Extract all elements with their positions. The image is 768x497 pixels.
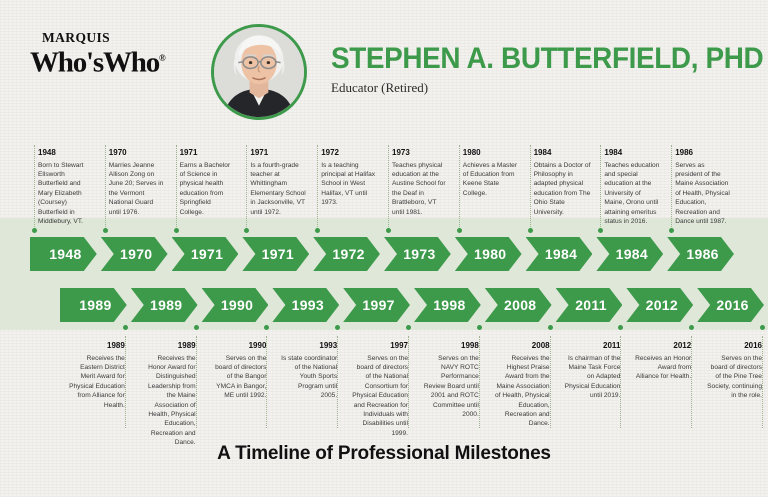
top-milestone-dot: [457, 228, 462, 233]
top-milestone-entry-text: Obtains a Doctor of Philosophy in adapte…: [534, 162, 591, 216]
footer-title: A Timeline of Professional Milestones: [0, 443, 768, 465]
top-milestone-year: 1984: [545, 246, 577, 262]
bottom-milestone-entry: 1997Serves on the board of directors of …: [351, 341, 408, 438]
bottom-milestone-chevron[interactable]: 1989: [60, 288, 127, 322]
bottom-divider: [266, 336, 267, 428]
bottom-milestone-year: 2008: [504, 297, 536, 313]
bottom-milestone-entry: 1998Serves on the NAVY ROTC Performance …: [422, 341, 479, 419]
bottom-milestone-entry-year: 1989: [68, 341, 125, 351]
bottom-milestone-chevron[interactable]: 1998: [414, 288, 481, 322]
top-milestone-entry-text: Serves as president of the Maine Associa…: [675, 162, 730, 225]
timeline-row-bottom: 1989198919901993199719982008201120122016: [0, 288, 768, 322]
bottom-milestone-entry-text: Is state coordinator of the National You…: [281, 355, 337, 400]
bottom-milestone-entry: 1989Receives the Eastern District Merit …: [68, 341, 125, 410]
bottom-milestone-chevron[interactable]: 1989: [131, 288, 198, 322]
bottom-divider: [479, 336, 480, 428]
top-milestone-entry: 1973Teaches physical education at the Au…: [392, 148, 449, 217]
top-milestone-entry: 1984Obtains a Doctor of Philosophy in ad…: [534, 148, 591, 217]
top-milestone-year: 1986: [686, 246, 718, 262]
avatar: [211, 24, 307, 120]
timeline-row-top: 1948197019711971197219731980198419841986: [0, 237, 768, 271]
top-milestone-chevron[interactable]: 1986: [667, 237, 734, 271]
bottom-milestone-year: 1989: [79, 297, 111, 313]
top-milestone-entry-text: Is a fourth-grade teacher at Whittingham…: [250, 162, 305, 216]
top-milestone-chevron[interactable]: 1971: [242, 237, 309, 271]
top-milestone-chevron[interactable]: 1970: [101, 237, 168, 271]
bottom-milestone-entry-text: Receives the Honor Award for Distinguish…: [148, 355, 196, 447]
top-divider: [34, 145, 35, 233]
bottom-milestone-chevron[interactable]: 1990: [202, 288, 269, 322]
top-milestone-entry-year: 1971: [180, 148, 237, 158]
bottom-milestone-dot: [194, 325, 199, 330]
top-milestone-entry: 1984Teaches education and special educat…: [604, 148, 661, 226]
top-milestone-year: 1948: [49, 246, 81, 262]
top-milestone-entry-year: 1984: [604, 148, 661, 158]
top-milestone-year: 1971: [191, 246, 223, 262]
top-milestone-entry: 1970Marries Jeanne Allison Zong on June …: [109, 148, 166, 217]
person-identity: STEPHEN A. BUTTERFIELD, PHD Educator (Re…: [331, 43, 768, 95]
top-milestone-entry: 1986Serves as president of the Maine Ass…: [675, 148, 732, 226]
bottom-milestone-chevron[interactable]: 2008: [485, 288, 552, 322]
person-role: Educator (Retired): [331, 80, 768, 95]
bottom-milestone-entry: 2011Is chairman of the Maine Task Force …: [564, 341, 621, 401]
top-milestone-year: 1980: [474, 246, 506, 262]
bottom-milestone-year: 1990: [221, 297, 253, 313]
bottom-milestone-entry: 2008Receives the Highest Praise Award fr…: [493, 341, 550, 429]
top-milestone-dot: [174, 228, 179, 233]
top-milestone-entry: 1972Is a teaching principal at Halifax S…: [321, 148, 378, 208]
top-milestone-entry-year: 1971: [250, 148, 307, 158]
portrait-illustration: [214, 27, 304, 117]
top-milestone-dot: [103, 228, 108, 233]
bottom-divider: [550, 336, 551, 428]
bottom-divider: [408, 336, 409, 428]
top-milestone-chevron[interactable]: 1973: [384, 237, 451, 271]
bottom-milestone-entry-text: Is chairman of the Maine Task Force on A…: [565, 355, 621, 400]
bottom-milestone-entry-text: Serves on the board of directors of the …: [215, 355, 266, 400]
bottom-milestone-entry-text: Serves on the NAVY ROTC Performance Revi…: [424, 355, 479, 418]
top-milestone-entry-year: 1986: [675, 148, 732, 158]
bottom-milestone-entry-year: 2016: [705, 341, 762, 351]
top-milestone-entry-year: 1948: [38, 148, 95, 158]
bottom-milestone-year: 2011: [575, 297, 607, 313]
bottom-divider: [762, 336, 763, 428]
top-milestone-year: 1984: [616, 246, 648, 262]
top-milestone-entry-year: 1980: [463, 148, 520, 158]
top-milestone-year: 1972: [332, 246, 364, 262]
top-milestone-dot: [528, 228, 533, 233]
bottom-milestone-dot: [477, 325, 482, 330]
top-milestone-dot: [386, 228, 391, 233]
registered-mark: ®: [159, 53, 166, 63]
top-milestone-chevron[interactable]: 1984: [526, 237, 593, 271]
top-milestone-entry-text: Born to Stewart Ellsworth Butterfield an…: [38, 162, 83, 225]
bottom-divider: [337, 336, 338, 428]
bottom-milestone-entry: 2012Receives an Honor Award from Allianc…: [634, 341, 691, 382]
bottom-milestone-chevron[interactable]: 2012: [626, 288, 693, 322]
bottom-milestone-entry-text: Receives an Honor Award from Alliance fo…: [635, 355, 691, 381]
top-milestone-entry-text: Earns a Bachelor of Science in physical …: [180, 162, 231, 216]
top-divider: [671, 145, 672, 233]
top-milestone-chevron[interactable]: 1980: [455, 237, 522, 271]
bottom-milestone-entry-year: 1998: [422, 341, 479, 351]
top-milestone-chevron[interactable]: 1984: [596, 237, 663, 271]
top-milestone-entry-text: Teaches physical education at the Austin…: [392, 162, 446, 216]
top-divider: [459, 145, 460, 233]
top-divider: [176, 145, 177, 233]
top-milestone-entry-year: 1973: [392, 148, 449, 158]
bottom-milestone-year: 1989: [150, 297, 182, 313]
bottom-milestone-entry: 2016Serves on the board of directors of …: [705, 341, 762, 401]
top-milestone-year: 1971: [262, 246, 294, 262]
top-milestone-entry: 1948Born to Stewart Ellsworth Butterfiel…: [38, 148, 95, 226]
top-milestone-entry-year: 1984: [534, 148, 591, 158]
bottom-milestone-chevron[interactable]: 2011: [556, 288, 623, 322]
top-milestone-year: 1970: [120, 246, 152, 262]
bottom-divider: [196, 336, 197, 428]
bottom-milestone-entry: 1993Is state coordinator of the National…: [280, 341, 337, 401]
marquis-whoswho-logo: MARQUIS Who'sWho®: [30, 32, 180, 77]
bottom-milestone-dot: [406, 325, 411, 330]
top-milestone-entry-year: 1972: [321, 148, 378, 158]
top-milestone-entry-text: Teaches education and special education …: [604, 162, 659, 225]
bottom-milestone-chevron[interactable]: 1993: [272, 288, 339, 322]
bottom-milestone-entry-year: 1993: [280, 341, 337, 351]
bottom-milestone-entry-year: 1990: [210, 341, 267, 351]
bottom-milestone-dot: [760, 325, 765, 330]
top-divider: [105, 145, 106, 233]
bottom-milestone-entry: 1990Serves on the board of directors of …: [210, 341, 267, 401]
bottom-milestone-year: 1993: [292, 297, 324, 313]
bottom-divider: [620, 336, 621, 428]
top-milestone-chevron[interactable]: 1972: [313, 237, 380, 271]
top-divider: [600, 145, 601, 233]
top-milestone-entry-text: Achieves a Master of Education from Keen…: [463, 162, 517, 197]
bottom-milestone-entry-text: Receives the Highest Praise Award from t…: [495, 355, 550, 428]
bottom-milestone-entry-year: 2011: [564, 341, 621, 351]
bottom-milestone-year: 1997: [362, 297, 394, 313]
bottom-milestone-entry-year: 1989: [139, 341, 196, 351]
top-milestone-entry-text: Marries Jeanne Allison Zong on June 20; …: [109, 162, 164, 216]
bottom-milestone-entry-year: 1997: [351, 341, 408, 351]
logo-whoswho-text: Who'sWho: [30, 47, 159, 79]
top-divider: [530, 145, 531, 233]
top-divider: [388, 145, 389, 233]
bottom-divider: [691, 336, 692, 428]
page-header: MARQUIS Who'sWho®: [0, 0, 768, 128]
top-milestone-entry: 1980Achieves a Master of Education from …: [463, 148, 520, 198]
bottom-milestone-entry-text: Receives the Eastern District Merit Awar…: [69, 355, 125, 409]
top-milestone-chevron[interactable]: 1971: [172, 237, 239, 271]
bottom-milestone-entry: 1989Receives the Honor Award for Disting…: [139, 341, 196, 448]
logo-line-whoswho: Who'sWho®: [30, 44, 180, 77]
top-milestone-year: 1973: [403, 246, 435, 262]
page-title: STEPHEN A. BUTTERFIELD, PHD: [331, 43, 763, 75]
top-milestone-entry: 1971Is a fourth-grade teacher at Whittin…: [250, 148, 307, 217]
bottom-divider: [125, 336, 126, 428]
bottom-milestone-year: 2012: [646, 297, 678, 313]
bottom-milestone-entry-text: Serves on the board of directors of the …: [352, 355, 408, 437]
top-milestone-chevron[interactable]: 1948: [30, 237, 97, 271]
top-milestone-entry-year: 1970: [109, 148, 166, 158]
top-milestone-dot: [32, 228, 37, 233]
bottom-milestone-entry-text: Serves on the board of directors of the …: [707, 355, 762, 400]
bottom-milestone-entry-year: 2008: [493, 341, 550, 351]
logo-line-marquis: MARQUIS: [30, 32, 180, 44]
bottom-milestone-chevron[interactable]: 1997: [343, 288, 410, 322]
top-milestone-entry: 1971Earns a Bachelor of Science in physi…: [180, 148, 237, 217]
top-milestone-entry-text: Is a teaching principal at Halifax Schoo…: [321, 162, 375, 207]
bottom-milestone-year: 1998: [433, 297, 465, 313]
bottom-milestone-dot: [123, 325, 128, 330]
bottom-milestone-dot: [548, 325, 553, 330]
bottom-milestone-chevron[interactable]: 2016: [697, 288, 764, 322]
bottom-milestone-year: 2016: [716, 297, 748, 313]
bottom-milestone-entry-year: 2012: [634, 341, 691, 351]
top-divider: [246, 145, 247, 233]
top-divider: [317, 145, 318, 233]
